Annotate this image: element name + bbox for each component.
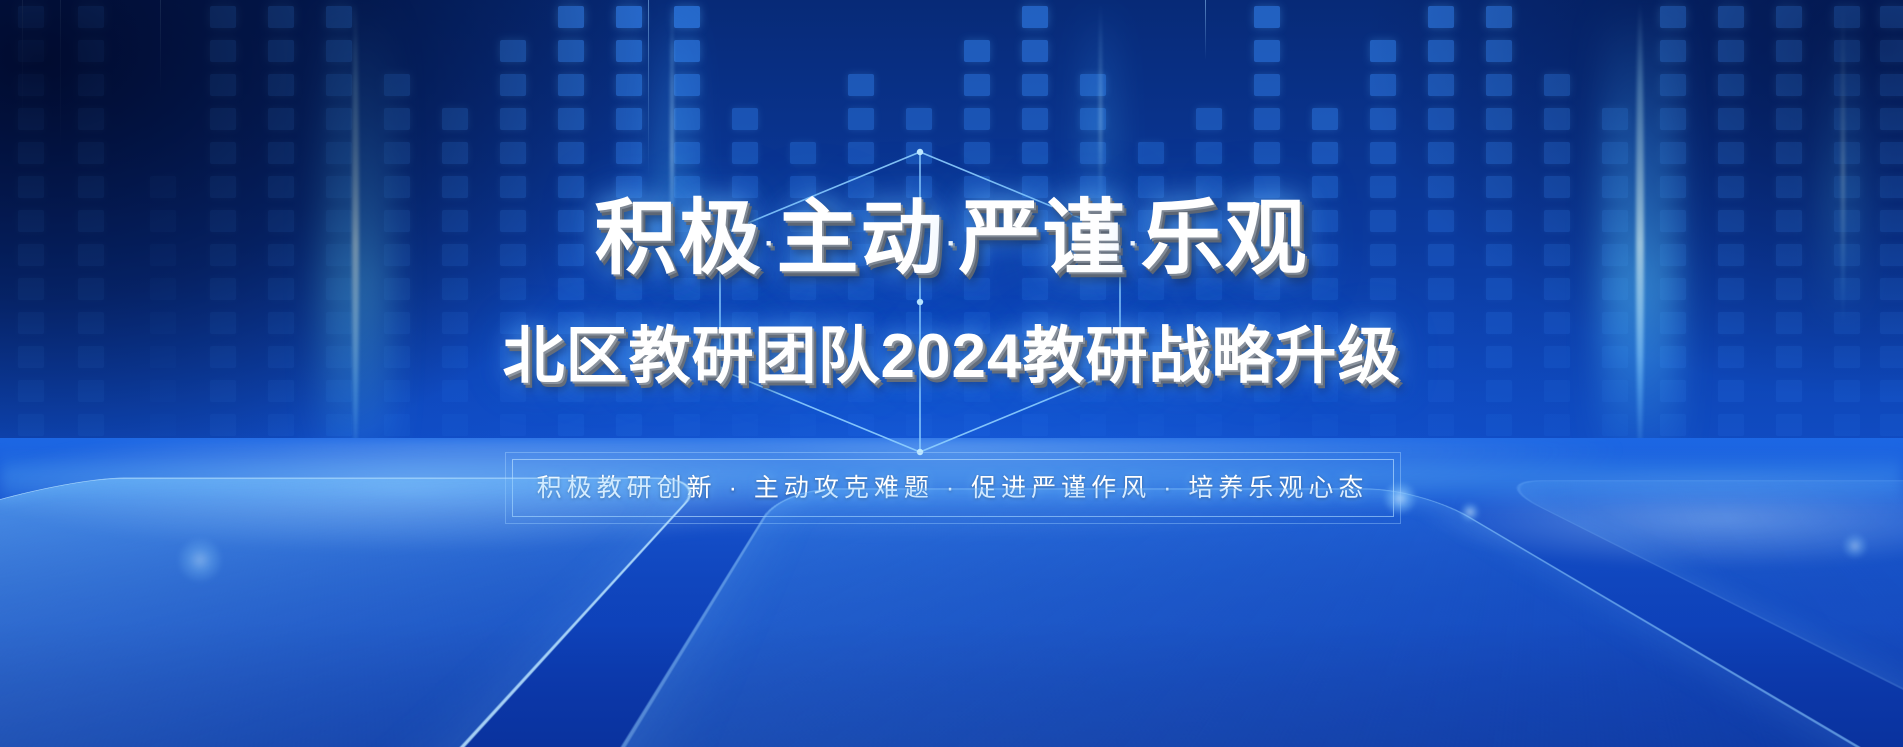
tagline-item-3: 促进严谨作风 <box>971 474 1151 502</box>
tagline-item-1: 积极教研创新 <box>537 474 717 502</box>
headline-separator-dot: · <box>1129 227 1139 260</box>
tagline-frame: 积极教研创新 · 主动攻克难题 · 促进严谨作风 · 培养乐观心态 <box>512 459 1394 517</box>
headline-word-3: 严谨 <box>959 193 1127 284</box>
tagline-item-2: 主动攻克难题 <box>754 474 934 502</box>
promotional-banner: 积极·主动·严谨·乐观 北区教研团队2024教研战略升级 积极教研创新 · 主动… <box>0 0 1903 747</box>
tagline-separator-dot: · <box>717 474 754 502</box>
tagline-item-4: 培养乐观心态 <box>1188 474 1368 502</box>
headline-separator-dot: · <box>947 227 957 260</box>
banner-text-stack: 积极·主动·严谨·乐观 北区教研团队2024教研战略升级 积极教研创新 · 主动… <box>0 0 1903 747</box>
headline-word-4: 乐观 <box>1141 193 1309 284</box>
tagline-separator-dot: · <box>1151 474 1188 502</box>
banner-tagline: 积极教研创新 · 主动攻克难题 · 促进严谨作风 · 培养乐观心态 <box>513 460 1393 516</box>
headline-word-1: 积极 <box>594 193 762 284</box>
banner-subline: 北区教研团队2024教研战略升级 <box>0 326 1903 388</box>
banner-headline: 积极·主动·严谨·乐观 <box>0 198 1903 280</box>
headline-word-2: 主动 <box>776 193 944 284</box>
headline-separator-dot: · <box>764 227 774 260</box>
tagline-separator-dot: · <box>934 474 971 502</box>
